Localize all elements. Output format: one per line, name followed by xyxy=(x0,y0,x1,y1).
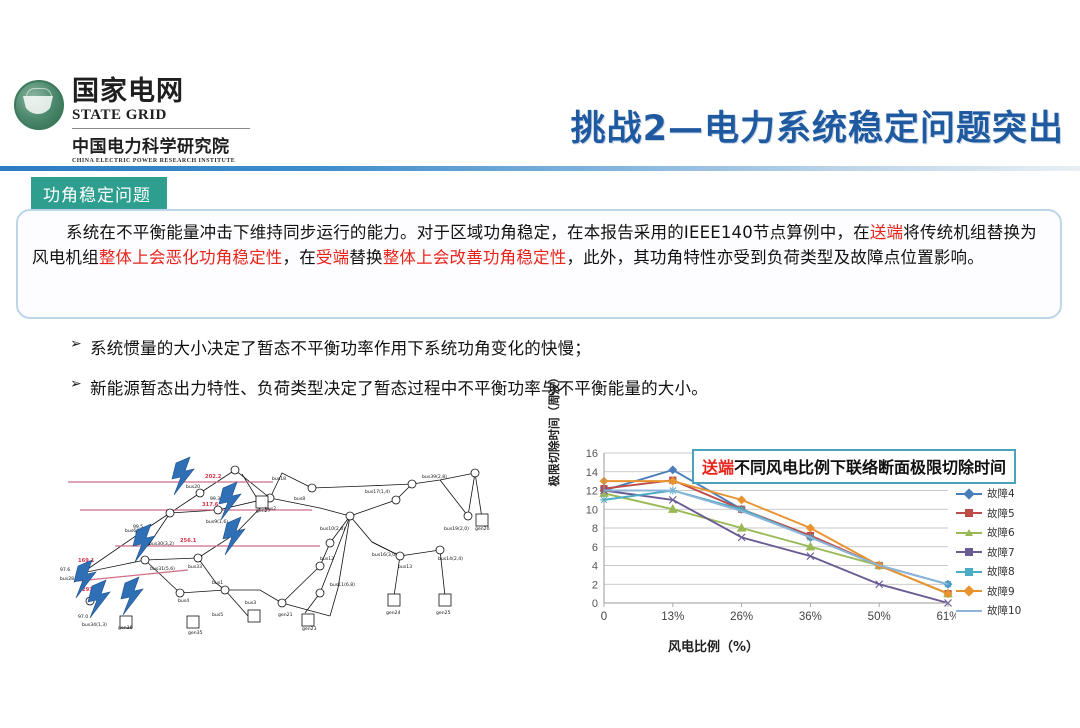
chart-y-tick-label: 4 xyxy=(592,561,598,573)
svg-text:bus33: bus33 xyxy=(188,564,202,570)
svg-text:bus3: bus3 xyxy=(245,600,256,606)
para-red-improve: 整体上会改善功角稳定性 xyxy=(383,248,567,267)
slide-root: 国家电网 STATE GRID 中国电力科学研究院 CHINA ELECTRIC… xyxy=(0,0,1080,728)
chart-series-line xyxy=(604,470,948,584)
chart-x-tick-label: 36% xyxy=(799,611,822,623)
limit-clearing-time-chart: 极限切除时间（周波） 0246810121416 013%26%36%50%61… xyxy=(550,437,1062,662)
legend-label: 故障10 xyxy=(987,603,1021,618)
definition-paragraph: 系统在不平衡能量冲击下维持同步运行的能力。对于区域功角稳定，在本报告采用的IEE… xyxy=(32,220,1046,270)
para-seg-4: 替换 xyxy=(349,248,382,267)
chart-y-tick-label: 16 xyxy=(586,448,598,460)
para-red-receiving-end: 受端 xyxy=(316,248,349,267)
legend-item[interactable]: 故障8 xyxy=(956,562,1062,582)
legend-color-swatch xyxy=(956,532,982,534)
svg-text:bus4: bus4 xyxy=(178,598,189,604)
bullet-text: 新能源暂态出力特性、负荷类型决定了暂态过程中不平衡功率与不平衡能量的大小。 xyxy=(90,375,708,399)
legend-label: 故障8 xyxy=(987,564,1015,579)
svg-text:bus8: bus8 xyxy=(294,496,305,502)
chart-y-ticks: 0246810121416 xyxy=(586,448,598,610)
svg-text:gen24: gen24 xyxy=(386,610,401,616)
svg-text:bus11(6,8): bus11(6,8) xyxy=(330,582,355,588)
svg-text:bus19(2,0): bus19(2,0) xyxy=(444,526,469,532)
definition-box: 系统在不平衡能量冲击下维持同步运行的能力。对于区域功角稳定，在本报告采用的IEE… xyxy=(16,209,1062,319)
chart-x-tick-label: 26% xyxy=(730,611,753,623)
list-item: ➢ 系统惯量的大小决定了暂态不平衡功率作用下系统功角变化的快慢； xyxy=(70,335,1050,359)
chart-x-tick-label: 13% xyxy=(661,611,684,623)
svg-text:97.0: 97.0 xyxy=(78,614,88,620)
logo-text-group: 国家电网 STATE GRID 中国电力科学研究院 CHINA ELECTRIC… xyxy=(72,78,250,164)
chart-y-tick-label: 2 xyxy=(592,579,598,591)
lightning-bolt-icon xyxy=(88,580,110,618)
svg-text:bus1: bus1 xyxy=(212,580,223,586)
svg-text:bus39(2,8): bus39(2,8) xyxy=(422,474,447,480)
svg-text:bus10(2,8): bus10(2,8) xyxy=(320,526,345,532)
legend-item[interactable]: 故障5 xyxy=(956,504,1062,524)
network-diagram-svg: bus2099.5 bus31(5,6)97.6 bus28bus34(1,3)… xyxy=(20,438,530,643)
legend-item[interactable]: 故障7 xyxy=(956,543,1062,563)
chart-title-red: 送端 xyxy=(702,458,734,477)
svg-text:gen25: gen25 xyxy=(436,610,451,616)
legend-label: 故障6 xyxy=(987,525,1015,540)
chart-title: 送端不同风电比例下联络断面极限切除时间 xyxy=(692,449,1016,484)
svg-text:bus13: bus13 xyxy=(398,564,412,570)
chart-y-tick-label: 14 xyxy=(586,467,598,479)
svg-text:gen35: gen35 xyxy=(188,630,203,636)
chart-series-group xyxy=(600,466,952,606)
logo-divider xyxy=(72,128,250,129)
svg-text:202.2: 202.2 xyxy=(205,474,222,480)
svg-text:bus30(3,2): bus30(3,2) xyxy=(149,541,174,547)
legend-color-swatch xyxy=(956,571,982,573)
chart-y-tick-label: 6 xyxy=(592,542,598,554)
legend-item[interactable]: 故障9 xyxy=(956,582,1062,602)
logo-company-cn: 国家电网 xyxy=(72,78,250,106)
chart-legend: 故障4故障5故障6故障7故障8故障9故障10 xyxy=(956,484,1062,621)
lightning-bolt-icon xyxy=(121,577,143,615)
svg-text:bus20: bus20 xyxy=(186,484,200,490)
chart-x-ticks: 013%26%36%50%61% xyxy=(601,603,956,623)
slide-header: 国家电网 STATE GRID 中国电力科学研究院 CHINA ELECTRIC… xyxy=(0,0,1080,172)
fault-lightning-icons xyxy=(74,457,245,618)
lightning-bolt-icon xyxy=(219,482,241,520)
legend-marker-icon xyxy=(963,488,974,499)
legend-marker-icon xyxy=(965,548,973,556)
state-grid-emblem-icon xyxy=(14,80,64,130)
svg-text:gen23: gen23 xyxy=(302,626,317,632)
para-red-sending-end: 送端 xyxy=(870,223,903,242)
ieee140-network-diagram: bus2099.5 bus31(5,6)97.6 bus28bus34(1,3)… xyxy=(20,438,530,643)
chart-point-marker xyxy=(738,496,745,503)
state-grid-logo: 国家电网 STATE GRID 中国电力科学研究院 CHINA ELECTRIC… xyxy=(14,78,250,164)
chart-y-tick-label: 10 xyxy=(586,504,598,516)
legend-color-swatch xyxy=(956,493,982,495)
chart-point-marker xyxy=(807,524,814,531)
legend-marker-icon xyxy=(965,509,973,517)
chart-x-tick-label: 0 xyxy=(601,611,607,623)
legend-color-swatch xyxy=(956,551,982,553)
svg-text:gen20: gen20 xyxy=(475,526,490,532)
section-tab-power-angle-stability[interactable]: 功角稳定问题 xyxy=(31,177,167,211)
legend-color-swatch xyxy=(956,590,982,592)
logo-institute-cn: 中国电力科学研究院 xyxy=(72,132,250,157)
legend-label: 故障5 xyxy=(987,506,1015,521)
legend-item[interactable]: 故障4 xyxy=(956,484,1062,504)
legend-marker-icon xyxy=(963,586,974,597)
arrow-bullet-icon: ➢ xyxy=(70,335,90,354)
page-title: 挑战2—电力系统稳定问题突出 xyxy=(571,100,1064,151)
legend-label: 故障4 xyxy=(987,486,1015,501)
svg-text:bus14(2,4): bus14(2,4) xyxy=(438,556,463,562)
svg-text:gen21: gen21 xyxy=(278,612,293,618)
svg-text:bus9(1,6): bus9(1,6) xyxy=(206,519,228,525)
arrow-bullet-icon: ➢ xyxy=(70,375,90,394)
svg-text:bus17(1,4): bus17(1,4) xyxy=(365,489,390,495)
svg-text:bus16(3,0): bus16(3,0) xyxy=(372,552,397,558)
legend-marker-icon xyxy=(965,529,973,536)
chart-y-tick-label: 8 xyxy=(592,523,598,535)
svg-text:gen27: gen27 xyxy=(256,508,271,514)
para-seg-5: ，此外，其功角特性亦受到负荷类型及故障点位置影响。 xyxy=(566,248,984,267)
svg-text:bus12: bus12 xyxy=(320,556,334,562)
chart-x-tick-label: 61% xyxy=(936,611,956,623)
para-seg-1: 系统在不平衡能量冲击下维持同步运行的能力。对于区域功角稳定，在本报告采用的IEE… xyxy=(66,223,870,242)
legend-label: 故障7 xyxy=(987,545,1015,560)
svg-text:gen36: gen36 xyxy=(118,625,133,631)
logo-company-en: STATE GRID xyxy=(72,107,250,124)
svg-text:256.1: 256.1 xyxy=(180,538,197,544)
para-seg-3: ，在 xyxy=(283,248,316,267)
legend-marker-icon xyxy=(965,568,973,576)
chart-title-rest: 不同风电比例下联络断面极限切除时间 xyxy=(734,458,1006,477)
para-red-worsen: 整体上会恶化功角稳定性 xyxy=(99,248,283,267)
chart-x-tick-label: 50% xyxy=(868,611,891,623)
chart-y-tick-label: 12 xyxy=(586,486,598,498)
svg-text:317.6: 317.6 xyxy=(202,502,219,508)
svg-text:bus18: bus18 xyxy=(272,476,286,482)
network-generator-nodes xyxy=(120,496,488,628)
legend-label: 故障9 xyxy=(987,584,1015,599)
header-divider xyxy=(0,166,1080,171)
svg-text:bus34(1,3): bus34(1,3) xyxy=(82,622,107,628)
bullet-text: 系统惯量的大小决定了暂态不平衡功率作用下系统功角变化的快慢； xyxy=(90,335,591,359)
legend-color-swatch xyxy=(956,512,982,514)
logo-institute-en: CHINA ELECTRIC POWER RESEARCH INSTITUTE xyxy=(72,158,250,164)
svg-text:97.6: 97.6 xyxy=(60,567,70,573)
chart-series-line xyxy=(604,493,948,593)
chart-x-axis-label: 风电比例（%） xyxy=(668,636,759,655)
legend-item[interactable]: 故障10 xyxy=(956,601,1062,621)
chart-y-tick-label: 0 xyxy=(592,598,598,610)
legend-color-swatch xyxy=(956,610,982,612)
legend-item[interactable]: 故障6 xyxy=(956,523,1062,543)
svg-text:bus28: bus28 xyxy=(60,576,74,582)
svg-text:bus5: bus5 xyxy=(212,612,223,618)
svg-text:bus31(5,6): bus31(5,6) xyxy=(150,566,175,572)
